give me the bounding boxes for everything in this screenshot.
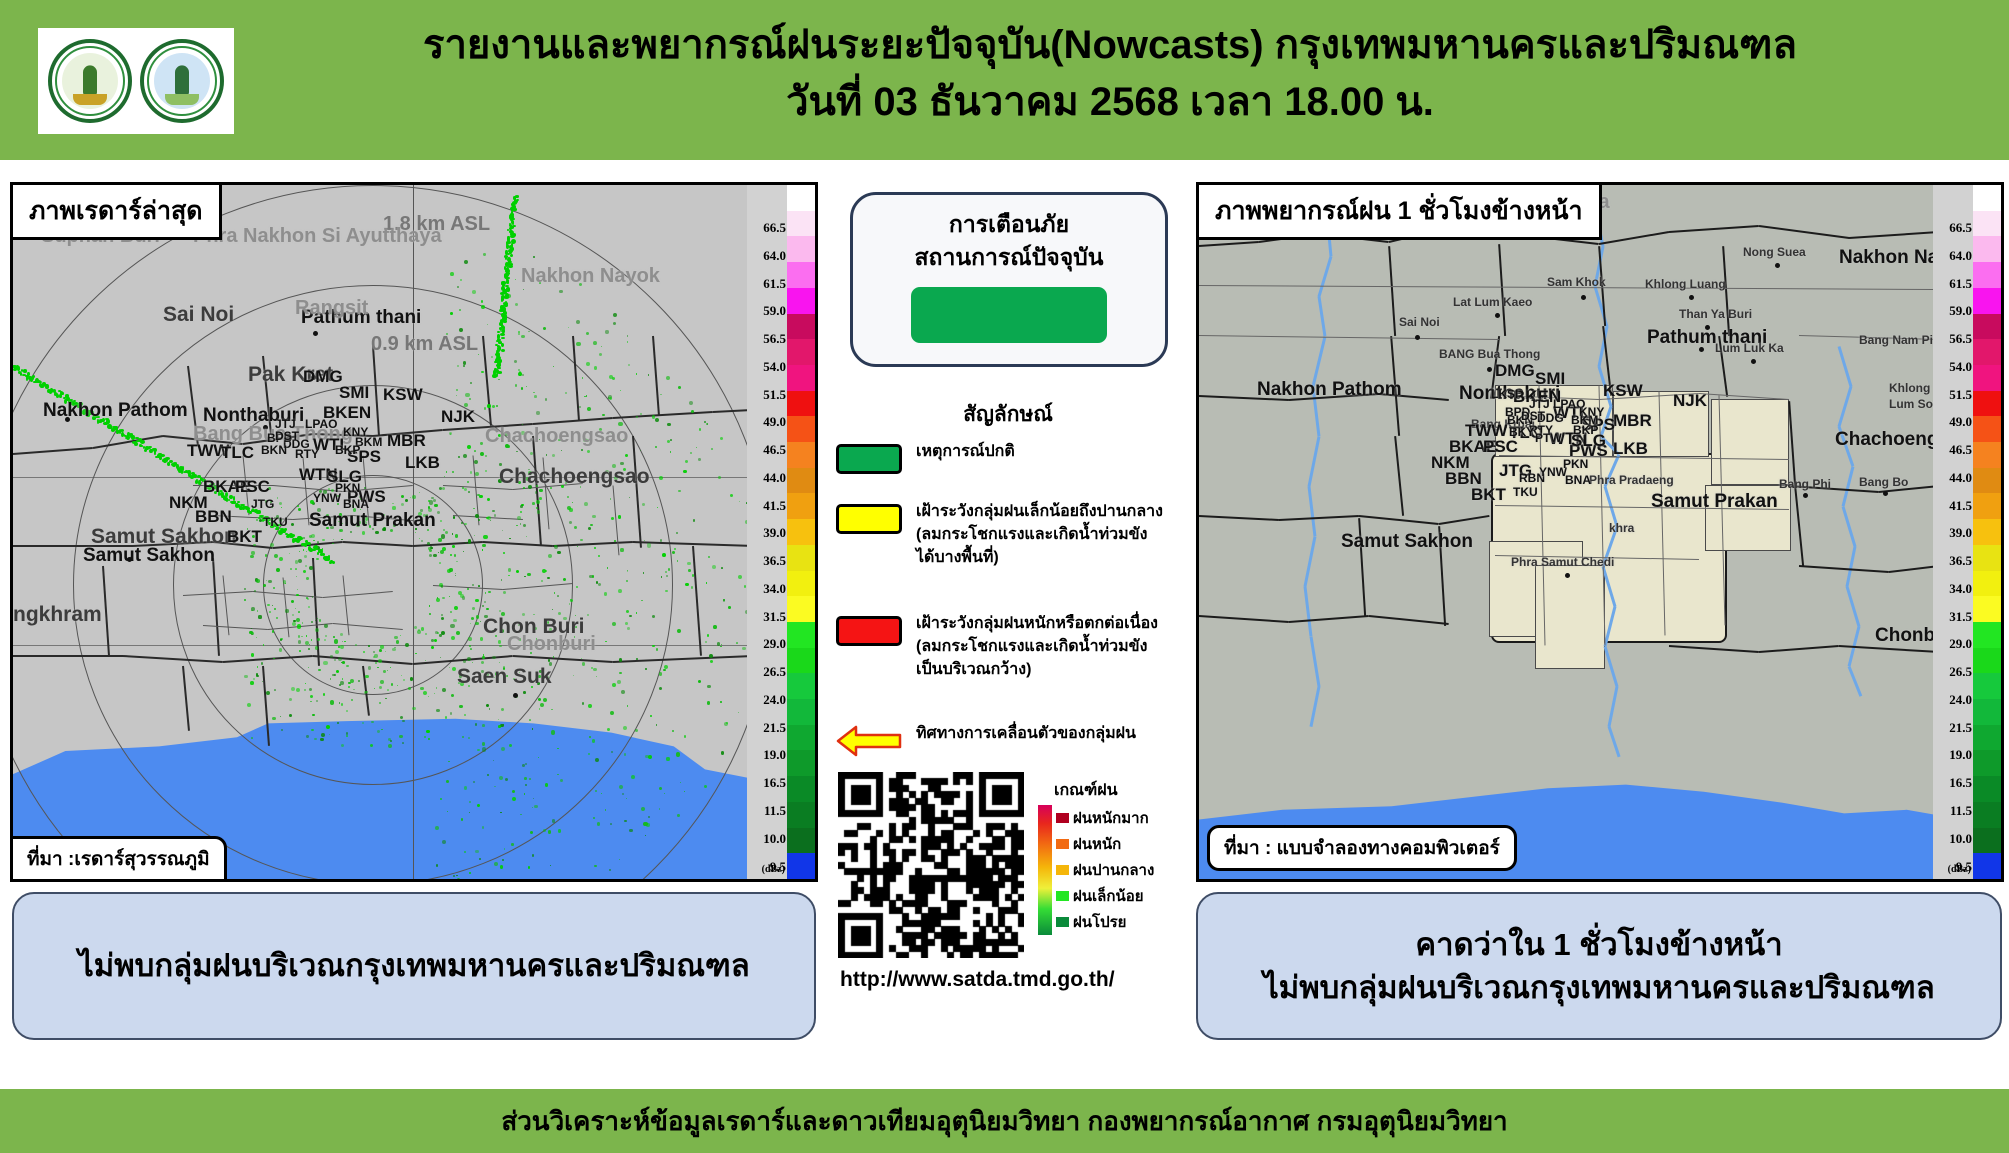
radar-scale-bar <box>787 185 815 879</box>
radar-echo-pixel <box>536 411 539 414</box>
radar-echo-pixel <box>503 591 506 594</box>
district-code: DST <box>275 429 299 443</box>
radar-echo-pixel <box>251 653 254 656</box>
radar-echo-pixel <box>308 648 310 650</box>
color-scale-tick: 44.0 <box>763 470 786 486</box>
color-scale-band <box>787 314 815 340</box>
color-scale-unit: (dBz) <box>762 864 785 875</box>
forecast-color-scale: 66.564.061.559.056.554.051.549.046.544.0… <box>1933 185 2001 879</box>
radar-echo-pixel <box>279 502 282 505</box>
color-scale-band <box>787 493 815 519</box>
forecast-panel-caption: ภาพพยากรณ์ฝน 1 ชั่วโมงข้างหน้า <box>1196 182 1602 240</box>
radar-echo-pixel <box>587 614 589 616</box>
radar-echo-pixel <box>342 678 343 679</box>
color-scale-tick: 36.5 <box>763 553 786 569</box>
radar-echo-pixel <box>251 607 255 611</box>
radar-echo-pixel <box>479 495 482 498</box>
district-code: BKY <box>1509 425 1534 439</box>
radar-echo-pixel <box>353 689 355 691</box>
legend-item-normal: เหตุการณ์ปกติ <box>836 440 1188 474</box>
radar-echo-pixel <box>693 519 695 521</box>
color-scale-band <box>1973 365 2001 391</box>
radar-echo-pixel <box>390 667 391 668</box>
color-scale-band <box>787 596 815 622</box>
radar-echo-pixel <box>433 499 436 502</box>
place-label: Sai Noi <box>163 303 234 327</box>
district-code: BKN <box>261 443 287 457</box>
radar-echo-pixel <box>610 823 612 825</box>
color-scale-tick: 39.0 <box>763 525 786 541</box>
radar-echo-pixel <box>592 515 595 518</box>
color-scale-tick: 46.5 <box>1949 442 1972 458</box>
radar-echo-pixel <box>482 742 485 745</box>
radar-echo-pixel <box>453 875 455 877</box>
radar-echo-pixel <box>674 548 675 549</box>
radar-echo-pixel <box>494 862 498 866</box>
rain-scale-label: ฝนหนักมาก <box>1073 806 1149 830</box>
radar-map-canvas[interactable]: 1.8 km ASL0.9 km ASLSuphan BuriPhra Nakh… <box>13 185 747 879</box>
district-code: SMI <box>339 383 369 403</box>
river-line <box>1846 546 1857 587</box>
color-scale-band <box>787 828 815 854</box>
radar-echo-pixel <box>330 655 332 657</box>
radar-echo-pixel <box>315 628 319 632</box>
radar-echo-pixel <box>318 669 320 671</box>
radar-echo-pixel <box>532 728 533 729</box>
radar-echo-pixel <box>485 470 487 472</box>
color-scale-tick: 51.5 <box>1949 387 1972 403</box>
radar-echo-pixel <box>465 393 469 397</box>
radar-echo-pixel <box>609 869 610 870</box>
district-code: MBR <box>1613 411 1652 431</box>
radar-echo-pixel <box>499 610 501 612</box>
color-scale-tick: 59.0 <box>1949 303 1972 319</box>
color-scale-tick: 10.0 <box>1949 831 1972 847</box>
radar-echo-pixel <box>479 858 481 860</box>
radar-echo-pixel <box>666 757 669 760</box>
legend-item-yellow-watch: เฝ้าระวังกลุ่มฝนเล็กน้อยถึงปานกลาง (ลมกร… <box>836 500 1188 570</box>
color-scale-tick: 44.0 <box>1949 470 1972 486</box>
district-code: TLC <box>221 443 254 463</box>
place-label: BANG Bua Thong <box>1439 347 1540 361</box>
radar-echo-pixel <box>333 636 335 638</box>
color-scale-band <box>787 571 815 597</box>
color-scale-band <box>787 545 815 571</box>
legend-label-movement-direction: ทิศทางการเคลื่อนตัวของกลุ่มฝน <box>916 722 1136 758</box>
radar-echo-pixel <box>595 790 597 792</box>
district-code: PSC <box>235 477 270 497</box>
radar-echo-pixel <box>362 722 364 724</box>
radar-echo-pixel <box>251 551 254 554</box>
river-line <box>1318 256 1333 297</box>
radar-echo-pixel <box>263 584 266 587</box>
color-scale-band <box>1973 828 2001 854</box>
rain-scale-item: ฝนปานกลาง <box>1056 858 1154 882</box>
radar-echo-pixel <box>625 622 628 625</box>
boundary-line <box>13 655 123 657</box>
radar-echo-pixel <box>379 649 382 652</box>
radar-echo-pixel <box>428 738 430 740</box>
radar-echo-pixel <box>742 647 745 650</box>
radar-echo-pixel <box>459 328 463 332</box>
radar-echo-pixel <box>441 617 444 620</box>
radar-echo-pixel <box>568 327 569 328</box>
color-scale-tick: 41.5 <box>763 498 786 514</box>
place-marker <box>1581 295 1586 300</box>
color-scale-band <box>787 750 815 776</box>
rain-scale-title: เกณฑ์ฝน <box>1054 778 1198 803</box>
radar-echo-pixel <box>481 305 485 309</box>
color-scale-tick: 21.5 <box>763 720 786 736</box>
place-label: Phra Pradaeng <box>1589 473 1674 487</box>
radar-echo-pixel <box>316 558 318 560</box>
district-code: NJK <box>1673 391 1707 411</box>
radar-echo-pixel <box>457 878 460 879</box>
radar-echo-pixel <box>463 660 466 663</box>
boundary-line <box>1199 241 1259 247</box>
district-code: RTY <box>295 447 319 461</box>
radar-echo-pixel <box>574 526 577 529</box>
place-label: Khlong <box>1889 381 1930 395</box>
radar-echo-pixel <box>457 286 459 288</box>
rain-scale-chip <box>1056 917 1069 927</box>
radar-echo-pixel <box>338 657 342 661</box>
radar-echo-pixel <box>511 843 513 845</box>
radar-echo-pixel <box>291 534 295 537</box>
radar-echo-pixel <box>528 866 531 869</box>
radar-echo-pixel <box>473 508 474 509</box>
radar-echo-pixel <box>705 641 707 643</box>
district-code: PTW <box>1535 431 1562 445</box>
color-scale-band <box>787 211 815 237</box>
color-scale-unit: (dBz) <box>1948 864 1971 875</box>
radar-echo-pixel <box>619 859 621 861</box>
radar-echo-pixel <box>610 711 614 715</box>
radar-echo-pixel <box>363 651 365 653</box>
left-arrow-icon <box>836 724 902 758</box>
district-code: KSW <box>383 385 423 405</box>
radar-echo-pixel <box>492 510 494 512</box>
radar-echo-pixel <box>597 822 600 825</box>
district-code: DMG <box>1495 361 1535 381</box>
radar-echo-pixel <box>251 737 253 739</box>
radar-echo-pixel <box>247 703 251 707</box>
radar-echo-pixel <box>279 648 282 651</box>
color-scale-band <box>1973 442 2001 468</box>
radar-echo-pixel <box>519 371 521 373</box>
radar-echo-pixel <box>482 549 483 550</box>
radar-echo-pixel <box>554 545 558 549</box>
rain-scale-item: ฝนหนักมาก <box>1056 806 1154 830</box>
color-scale-tick: 24.0 <box>763 692 786 708</box>
boundary-line <box>1722 246 1730 336</box>
radar-echo-pixel <box>460 279 462 281</box>
radar-echo-pixel <box>303 537 305 539</box>
district-code: MBR <box>387 431 426 451</box>
forecast-map-panel[interactable]: Suphan BuriPhra Nakhon Si AyutthayaNong … <box>1196 182 2004 882</box>
district-code: BKT <box>227 527 262 547</box>
alert-title-line-2: สถานการณ์ปัจจุบัน <box>914 242 1103 273</box>
radar-echo-pixel <box>476 615 480 619</box>
radar-echo-pixel <box>250 681 254 685</box>
radar-echo-pixel <box>456 389 458 391</box>
radar-echo-pixel <box>524 777 527 780</box>
forecast-source-label: ที่มา : แบบจำลองทางคอมพิวเตอร์ <box>1207 825 1517 871</box>
radar-echo-pixel <box>499 776 503 780</box>
radar-echo-pixel <box>313 540 315 542</box>
rain-scale-chip <box>1056 813 1069 823</box>
radar-echo-pixel <box>470 623 471 624</box>
district-code: PKN <box>335 481 360 495</box>
radar-echo-pixel <box>297 589 298 590</box>
radar-echo-pixel <box>567 496 569 498</box>
radar-echo-pixel <box>412 495 416 499</box>
radar-echo-pixel <box>450 624 454 628</box>
color-scale-band <box>787 648 815 674</box>
place-marker <box>313 331 318 336</box>
color-scale-band <box>1973 750 2001 776</box>
radar-echo-pixel <box>621 690 625 694</box>
radar-echo-pixel <box>548 830 551 833</box>
rain-scale-chip <box>1056 891 1069 901</box>
radar-echo-pixel <box>468 737 470 739</box>
color-scale-band <box>787 725 815 751</box>
radar-echo-pixel <box>475 850 479 854</box>
rain-scale-labels: ฝนหนักมากฝนหนักฝนปานกลางฝนเล็กน้อยฝนโปรย <box>1056 805 1154 935</box>
qr-code-canvas[interactable] <box>838 772 1024 958</box>
radar-echo-pixel <box>514 360 517 363</box>
radar-echo-pixel <box>505 778 508 781</box>
qr-code[interactable] <box>838 772 1024 958</box>
place-marker <box>1803 493 1808 498</box>
boundary-line <box>1849 231 1933 239</box>
radar-echo-pixel <box>450 611 452 613</box>
color-scale-tick: 19.0 <box>1949 747 1972 763</box>
radar-echo-pixel <box>258 615 261 618</box>
place-marker <box>513 693 518 698</box>
radar-echo-pixel <box>629 829 633 833</box>
place-label: Sai Noi <box>1399 315 1440 329</box>
radar-echo-pixel <box>480 442 482 444</box>
place-label: Lum Som <box>1889 397 1933 411</box>
boundary-line <box>1669 225 1759 233</box>
radar-echo-pixel <box>387 689 389 691</box>
radar-echo-pixel <box>576 586 577 587</box>
color-scale-band <box>1973 725 2001 751</box>
radar-echo-pixel <box>446 471 447 472</box>
radar-echo-pixel <box>237 501 240 503</box>
color-scale-tick: 49.0 <box>1949 414 1972 430</box>
radar-echo-pixel <box>276 568 280 572</box>
radar-echo-pixel <box>429 605 430 606</box>
rain-scale-chip <box>1056 865 1069 875</box>
radar-echo-pixel <box>569 508 573 512</box>
radar-echo-pixel <box>501 579 502 580</box>
title-line-1: รายงานและพยากรณ์ฝนระยะปัจจุบัน(Nowcasts)… <box>240 20 1980 70</box>
district-area <box>1711 399 1789 485</box>
radar-echo-pixel <box>489 708 490 709</box>
radar-echo-pixel <box>707 634 710 637</box>
radar-echo-pixel <box>454 554 457 557</box>
radar-echo-pixel <box>280 716 281 717</box>
color-scale-band <box>787 416 815 442</box>
radar-echo-pixel <box>620 390 621 391</box>
radar-echo-pixel <box>468 637 471 640</box>
radar-echo-pixel <box>440 798 442 800</box>
radar-echo-pixel <box>484 407 486 409</box>
province-label: Nakhon Nayok <box>521 265 660 288</box>
place-marker <box>1495 313 1500 318</box>
forecast-map-canvas[interactable]: Suphan BuriPhra Nakhon Si AyutthayaNong … <box>1199 185 1933 879</box>
center-legend-column: การเตือนภัย สถานการณ์ปัจจุบัน สัญลักษณ์ … <box>828 182 1188 1062</box>
legend-label-normal: เหตุการณ์ปกติ <box>916 440 1015 474</box>
radar-echo-pixel <box>365 691 368 694</box>
radar-echo-pixel <box>593 817 595 819</box>
radar-echo-pixel <box>334 674 336 676</box>
radar-echo-pixel <box>314 738 316 740</box>
radar-echo-pixel <box>605 641 607 643</box>
radar-echo-pixel <box>350 679 354 683</box>
radar-echo-pixel <box>445 531 448 534</box>
color-scale-band <box>1973 236 2001 262</box>
district-code: BKP <box>335 443 360 457</box>
content-area: 1.8 km ASL0.9 km ASLSuphan BuriPhra Nakh… <box>0 160 2009 1086</box>
radar-echo-pixel <box>250 555 253 558</box>
radar-echo-pixel <box>640 413 642 415</box>
district-code: DMG <box>303 367 343 387</box>
radar-echo-pixel <box>321 733 325 737</box>
district-code: JTG <box>251 497 274 511</box>
boundary-line <box>1599 231 1669 245</box>
place-label: Bang Phi <box>1779 477 1831 491</box>
radar-echo-pixel <box>636 658 638 660</box>
alert-status-box: การเตือนภัย สถานการณ์ปัจจุบัน <box>850 192 1168 367</box>
radar-echo-pixel <box>501 337 505 339</box>
radar-echo-pixel <box>520 523 521 524</box>
radar-echo-pixel <box>459 517 460 518</box>
radar-echo-pixel <box>581 658 582 659</box>
district-code: BNA <box>343 497 369 511</box>
radar-echo-pixel <box>402 720 404 722</box>
province-label: Samut Sakhon <box>83 545 215 567</box>
color-scale-band <box>1973 776 2001 802</box>
radar-color-scale: 66.564.061.559.056.554.051.549.046.544.0… <box>747 185 815 879</box>
radar-summary-box: ไม่พบกลุ่มฝนบริเวณกรุงเทพมหานครและปริมณฑ… <box>12 892 816 1040</box>
website-url[interactable]: http://www.satda.tmd.go.th/ <box>840 968 1150 992</box>
radar-echo-pixel <box>552 819 555 822</box>
radar-echo-pixel <box>295 568 297 570</box>
legend-swatch-red <box>836 616 902 646</box>
boundary-line <box>1199 335 1499 340</box>
place-label: Saen Suk <box>457 665 552 689</box>
radar-echo-pixel <box>594 547 596 549</box>
boundary-line <box>1289 615 1369 623</box>
rain-intensity-scale: เกณฑ์ฝน ฝนหนักมากฝนหนักฝนปานกลางฝนเล็กน้… <box>1038 778 1198 935</box>
radar-echo-pixel <box>388 744 392 748</box>
radar-echo-pixel <box>532 807 533 808</box>
radar-echo-pixel <box>677 629 681 633</box>
radar-echo-pixel <box>612 622 616 626</box>
radar-echo-pixel <box>484 601 486 603</box>
radar-echo-pixel <box>482 724 485 727</box>
district-code: NJK <box>441 407 475 427</box>
place-label: Lum Luk Ka <box>1715 341 1784 355</box>
place-label: Phra Samut Chedi <box>1511 555 1614 569</box>
title-line-2: วันที่ 03 ธันวาคม 2568 เวลา 18.00 น. <box>240 76 1980 128</box>
radar-echo-pixel <box>626 610 629 613</box>
radar-echo-pixel <box>441 614 443 616</box>
district-code: TKU <box>1513 485 1538 499</box>
radar-echo-pixel <box>477 494 479 496</box>
radar-echo-pixel <box>668 568 671 571</box>
radar-echo-pixel <box>346 735 348 737</box>
radar-echo-pixel <box>525 784 527 786</box>
radar-echo-pixel <box>604 592 607 595</box>
radar-echo-pixel <box>499 662 500 663</box>
river-line <box>1838 386 1853 427</box>
radar-map-panel[interactable]: 1.8 km ASL0.9 km ASLSuphan BuriPhra Nakh… <box>10 182 818 882</box>
radar-echo-pixel <box>620 548 623 551</box>
color-scale-tick: 36.5 <box>1949 553 1972 569</box>
radar-echo-pixel <box>581 449 583 451</box>
color-scale-tick: 26.5 <box>763 664 786 680</box>
radar-echo-pixel <box>539 708 540 709</box>
radar-echo-pixel <box>467 481 468 482</box>
color-scale-band <box>1973 571 2001 597</box>
radar-echo-pixel <box>492 656 496 660</box>
rain-scale-label: ฝนหนัก <box>1073 832 1121 856</box>
radar-echo-pixel <box>486 517 489 520</box>
radar-echo-pixel <box>586 362 590 366</box>
river-line <box>1310 636 1321 686</box>
radar-echo-pixel <box>283 580 287 584</box>
river-line <box>1608 686 1619 727</box>
radar-echo-pixel <box>297 505 299 507</box>
district-area <box>1535 565 1605 669</box>
radar-echo-pixel <box>472 607 475 610</box>
color-scale-band <box>787 262 815 288</box>
color-scale-tick: 34.0 <box>763 581 786 597</box>
radar-echo-pixel <box>504 848 505 849</box>
radar-echo-pixel <box>295 560 299 564</box>
color-scale-tick: 46.5 <box>763 442 786 458</box>
forecast-scale-bar <box>1973 185 2001 879</box>
page-title: รายงานและพยากรณ์ฝนระยะปัจจุบัน(Nowcasts)… <box>240 20 1980 128</box>
radar-echo-pixel <box>433 554 436 557</box>
radar-echo-pixel <box>706 582 707 583</box>
radar-echo-pixel <box>292 614 294 616</box>
radar-echo-pixel <box>691 586 693 588</box>
radar-echo-pixel <box>576 342 580 346</box>
radar-echo-pixel <box>297 624 301 628</box>
radar-echo-pixel <box>708 556 710 558</box>
legend-label-red-watch: เฝ้าระวังกลุ่มฝนหนักหรือตกต่อเนื่อง (ลมก… <box>916 612 1158 682</box>
color-scale-band <box>1973 288 2001 314</box>
place-marker <box>127 557 132 562</box>
color-scale-band <box>1973 853 2001 879</box>
radar-echo-pixel <box>17 366 20 370</box>
color-scale-band <box>1973 262 2001 288</box>
radar-echo-pixel <box>474 535 475 536</box>
radar-echo-pixel <box>662 553 666 557</box>
radar-echo-pixel <box>273 587 275 589</box>
river-line <box>1608 726 1621 757</box>
radar-echo-pixel <box>421 627 424 630</box>
color-scale-tick: 10.0 <box>763 831 786 847</box>
radar-echo-pixel <box>652 415 655 418</box>
radar-echo-pixel <box>420 687 423 690</box>
rain-scale-item: ฝนหนัก <box>1056 832 1154 856</box>
